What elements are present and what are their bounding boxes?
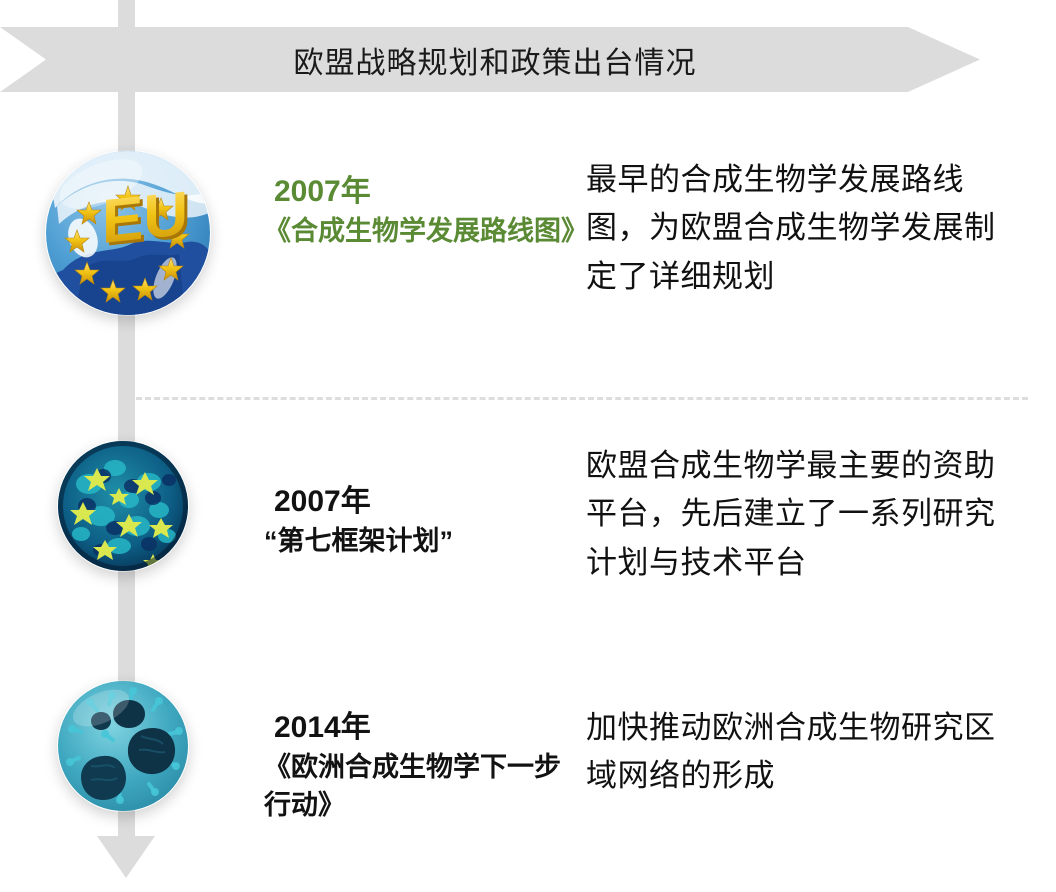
- timeline-year-2: 2007年: [274, 482, 580, 522]
- timeline-description-2: 欧盟合成生物学最主要的资助平台，先后建立了一系列研究计划与技术平台: [586, 442, 1004, 587]
- timeline-label-cell-2: 2007年 “第七框架计划”: [256, 440, 586, 560]
- header-banner: 欧盟战略规划和政策出台情况: [0, 27, 980, 92]
- timeline-description-3: 加快推动欧洲合成生物研究区域网络的形成: [586, 704, 1004, 801]
- timeline-icon-cell-1: EU EU: [0, 150, 256, 316]
- cell-microscopy-icon: [57, 680, 189, 812]
- timeline-year-3: 2014年: [274, 708, 580, 748]
- timeline-item-1: EU EU 2007年 《合成生物学发展路线图》 最早的合成生物学发展路线图，为…: [0, 150, 1056, 316]
- timeline-title-3: 《欧洲合成生物学下一步行动》: [256, 748, 580, 826]
- timeline-title-2: “第七框架计划”: [256, 522, 580, 561]
- timeline-desc-cell-2: 欧盟合成生物学最主要的资助平台，先后建立了一系列研究计划与技术平台: [586, 440, 1056, 587]
- page-title: 欧盟战略规划和政策出台情况: [284, 38, 697, 82]
- svg-text:EU: EU: [102, 179, 188, 257]
- timeline-year-1: 2007年: [274, 172, 580, 212]
- eu-globe-icon: EU EU: [45, 150, 211, 316]
- timeline-arrow-down-icon: [97, 836, 155, 878]
- timeline-desc-cell-1: 最早的合成生物学发展路线图，为欧盟合成生物学发展制定了详细规划: [586, 150, 1056, 301]
- timeline-description-1: 最早的合成生物学发展路线图，为欧盟合成生物学发展制定了详细规划: [586, 156, 1004, 301]
- virus-cluster-icon: [57, 440, 189, 572]
- timeline-desc-cell-3: 加快推动欧洲合成生物研究区域网络的形成: [586, 680, 1056, 801]
- timeline-item-2: 2007年 “第七框架计划” 欧盟合成生物学最主要的资助平台，先后建立了一系列研…: [0, 440, 1056, 587]
- timeline-label-cell-3: 2014年 《欧洲合成生物学下一步行动》: [256, 680, 586, 825]
- timeline-icon-cell-2: [0, 440, 256, 572]
- timeline-title-1: 《合成生物学发展路线图》: [256, 212, 580, 251]
- timeline-label-cell-1: 2007年 《合成生物学发展路线图》: [256, 150, 586, 250]
- timeline-icon-cell-3: [0, 680, 256, 812]
- row-divider: [136, 397, 1028, 400]
- timeline-item-3: 2014年 《欧洲合成生物学下一步行动》 加快推动欧洲合成生物研究区域网络的形成: [0, 680, 1056, 825]
